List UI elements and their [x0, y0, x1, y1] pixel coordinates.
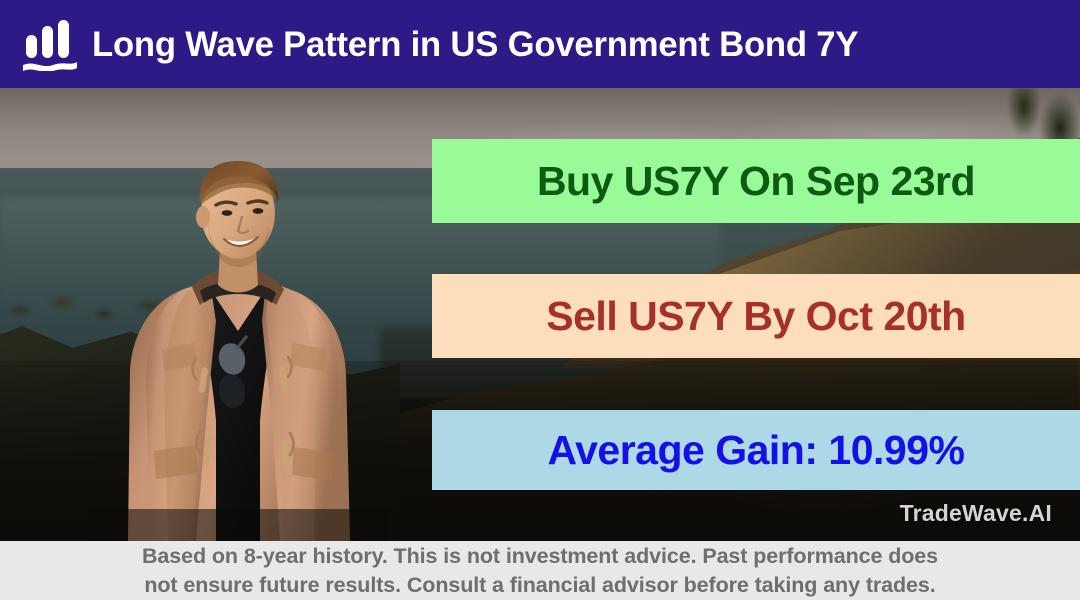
buy-signal-label: Buy US7Y On Sep 23rd — [537, 161, 975, 202]
sell-signal-banner[interactable]: Sell US7Y By Oct 20th — [432, 274, 1080, 358]
three-ascending-bars-over-wave-icon — [22, 19, 78, 71]
page-title: Long Wave Pattern in US Government Bond … — [92, 27, 858, 62]
sell-signal-label: Sell US7Y By Oct 20th — [546, 296, 965, 337]
disclaimer-footer: Based on 8-year history. This is not inv… — [0, 541, 1080, 600]
average-gain-label: Average Gain: 10.99% — [548, 430, 965, 471]
brand-watermark: TradeWave.AI — [900, 500, 1052, 527]
header-bar: Long Wave Pattern in US Government Bond … — [0, 0, 1080, 88]
signal-card: Long Wave Pattern in US Government Bond … — [0, 0, 1080, 600]
person-photo-subject — [88, 121, 388, 541]
disclaimer-line-1: Based on 8-year history. This is not inv… — [142, 542, 938, 570]
disclaimer-line-2: not ensure future results. Consult a fin… — [144, 571, 935, 599]
average-gain-banner[interactable]: Average Gain: 10.99% — [432, 410, 1080, 490]
buy-signal-banner[interactable]: Buy US7Y On Sep 23rd — [432, 139, 1080, 223]
